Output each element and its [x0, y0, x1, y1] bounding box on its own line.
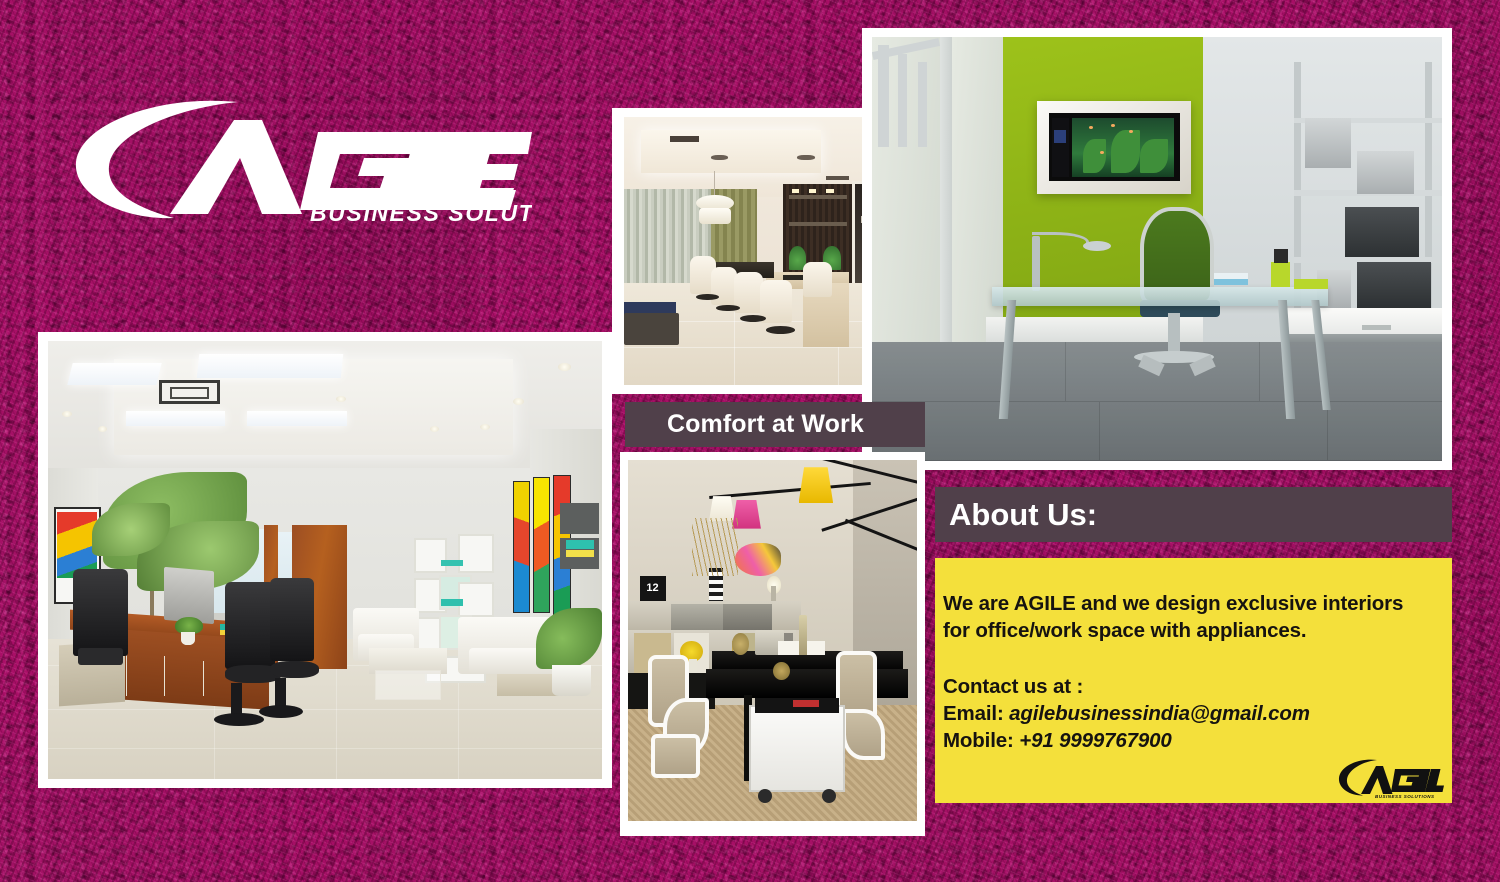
- agile-swoosh-logo: BUSINESS SOLUTIONS: [62, 92, 532, 227]
- photo-loft-workspace: 12: [628, 460, 917, 821]
- email-value[interactable]: agilebusinessindia@gmail.com: [1009, 702, 1310, 725]
- svg-text:BUSINESS SOLUTIONS: BUSINESS SOLUTIONS: [1375, 794, 1435, 799]
- photo-frame-executive-office: [38, 332, 612, 788]
- about-paragraph-line-2: for office/work space with appliances.: [943, 617, 1452, 644]
- about-us-content-box: We are AGILE and we design exclusive int…: [935, 558, 1452, 803]
- photo-frame-loft-workspace: 12: [620, 452, 925, 836]
- comfort-at-work-label: Comfort at Work: [667, 410, 864, 439]
- photo-frame-green-accent-office: [862, 28, 1452, 470]
- email-row: Email: agilebusinessindia@gmail.com: [943, 700, 1452, 727]
- photo-green-accent-office: [872, 37, 1442, 461]
- photo-executive-office: [48, 341, 602, 779]
- loft-number-sign: 12: [640, 576, 666, 601]
- mobile-row: Mobile: +91 9999767900: [943, 727, 1452, 754]
- contact-label: Contact us at :: [943, 673, 1452, 700]
- comfort-at-work-banner: Comfort at Work: [625, 402, 925, 447]
- about-us-heading: About Us:: [949, 497, 1097, 533]
- about-us-banner: About Us:: [935, 487, 1452, 542]
- mobile-label: Mobile:: [943, 729, 1014, 752]
- agile-logo-small: BUSINESS SOLUTIONS: [1336, 757, 1444, 799]
- logo-tagline: BUSINESS SOLUTIONS: [310, 200, 532, 226]
- about-paragraph-line-1: We are AGILE and we design exclusive int…: [943, 590, 1452, 617]
- email-label: Email:: [943, 702, 1004, 725]
- mobile-value[interactable]: +91 9999767900: [1019, 729, 1171, 752]
